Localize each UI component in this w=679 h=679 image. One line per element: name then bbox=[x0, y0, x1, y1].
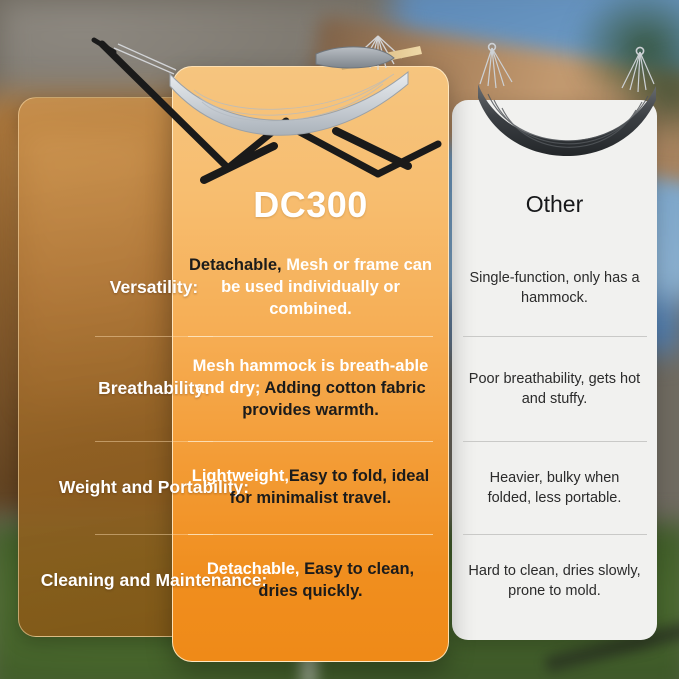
product-value-row: Mesh hammock is breath-able and dry; Add… bbox=[172, 337, 449, 441]
competitor-column: Other Single-function, only has a hammoc… bbox=[452, 100, 657, 640]
competitor-value-breathability: Poor breathability, gets hot and stuffy. bbox=[452, 369, 657, 409]
competitor-value-row: Hard to clean, dries slowly, prone to mo… bbox=[452, 535, 657, 627]
competitor-value-row: Poor breathability, gets hot and stuffy. bbox=[452, 337, 657, 441]
text-run: Detachable, bbox=[189, 256, 282, 274]
competitor-value-cleaning-maintenance: Hard to clean, dries slowly, prone to mo… bbox=[452, 561, 657, 601]
product-value-rows: Detachable, Mesh or frame can be used in… bbox=[172, 240, 449, 627]
product-value-weight-portability: Lightweight,Easy to fold, ideal for mini… bbox=[172, 466, 449, 510]
competitor-value-row: Heavier, bulky when folded, less portabl… bbox=[452, 442, 657, 534]
product-column: DC300 Detachable, Mesh or frame can be u… bbox=[172, 66, 449, 662]
product-title: DC300 bbox=[172, 184, 449, 226]
product-value-versatility: Detachable, Mesh or frame can be used in… bbox=[172, 255, 449, 320]
highlighted-text-run: Lightweight, bbox=[192, 467, 289, 485]
product-value-row: Detachable, Easy to clean, dries quickly… bbox=[172, 535, 449, 627]
product-value-row: Lightweight,Easy to fold, ideal for mini… bbox=[172, 442, 449, 534]
product-value-breathability: Mesh hammock is breath-able and dry; Add… bbox=[172, 356, 449, 421]
product-value-cleaning-maintenance: Detachable, Easy to clean, dries quickly… bbox=[172, 559, 449, 603]
competitor-value-rows: Single-function, only has a hammock. Poo… bbox=[452, 240, 657, 627]
highlighted-text-run: Detachable, bbox=[207, 560, 300, 578]
competitor-value-weight-portability: Heavier, bulky when folded, less portabl… bbox=[452, 468, 657, 508]
competitor-title: Other bbox=[452, 191, 657, 218]
text-run: Adding cotton fabric provides warmth. bbox=[242, 379, 426, 419]
comparison-infographic: Versatility: Breathability: Weight and P… bbox=[0, 0, 679, 679]
product-value-row: Detachable, Mesh or frame can be used in… bbox=[172, 240, 449, 336]
competitor-value-row: Single-function, only has a hammock. bbox=[452, 240, 657, 336]
competitor-value-versatility: Single-function, only has a hammock. bbox=[452, 268, 657, 308]
